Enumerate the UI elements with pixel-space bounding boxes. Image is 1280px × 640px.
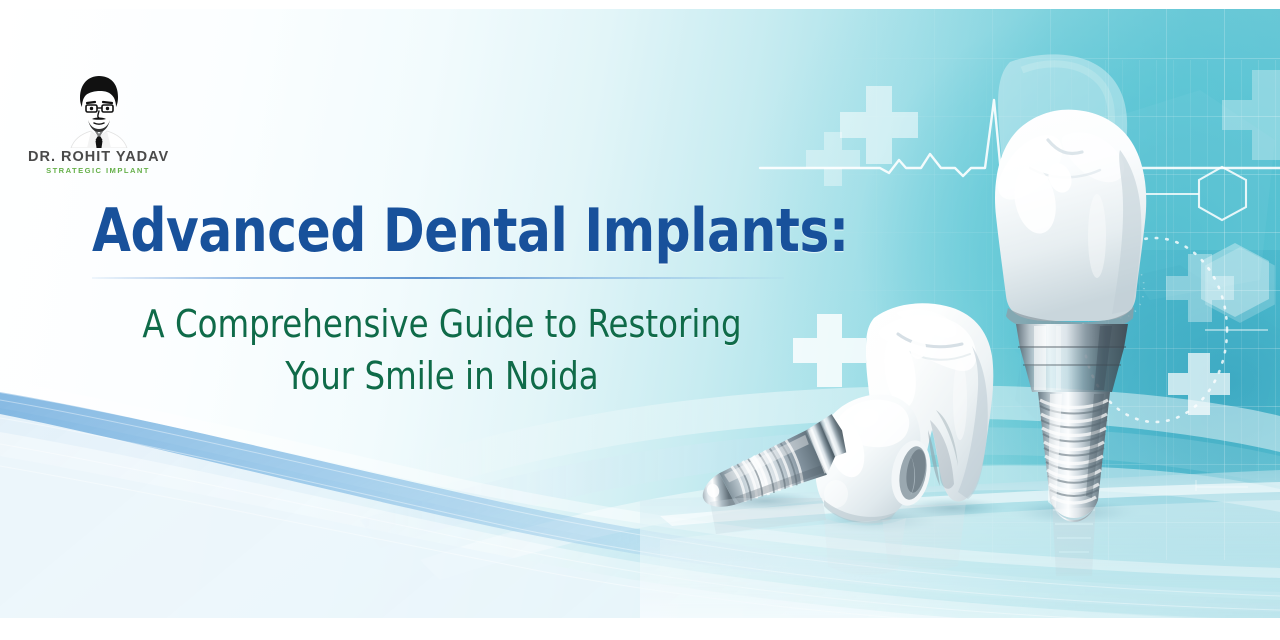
top-white-edge [0, 0, 1280, 9]
background-fine-grid-pattern [850, 60, 1280, 480]
dental-implant-banner: DR. ROHIT YADAV STRATEGIC IMPLANT Advanc… [0, 0, 1280, 640]
subtitle-line-1: A Comprehensive Guide to Restoring [110, 298, 775, 350]
doctor-portrait-icon [61, 72, 135, 148]
logo-tagline: STRATEGIC IMPLANT [28, 166, 168, 175]
title-divider [92, 277, 784, 279]
logo-doctor-name: DR. ROHIT YADAV [28, 150, 168, 165]
bottom-white-edge [0, 618, 1280, 640]
brand-logo[interactable]: DR. ROHIT YADAV STRATEGIC IMPLANT [28, 72, 168, 175]
page-subtitle: A Comprehensive Guide to Restoring Your … [110, 298, 775, 403]
subtitle-line-2: Your Smile in Noida [110, 350, 775, 402]
page-title: Advanced Dental Implants: [92, 196, 849, 266]
